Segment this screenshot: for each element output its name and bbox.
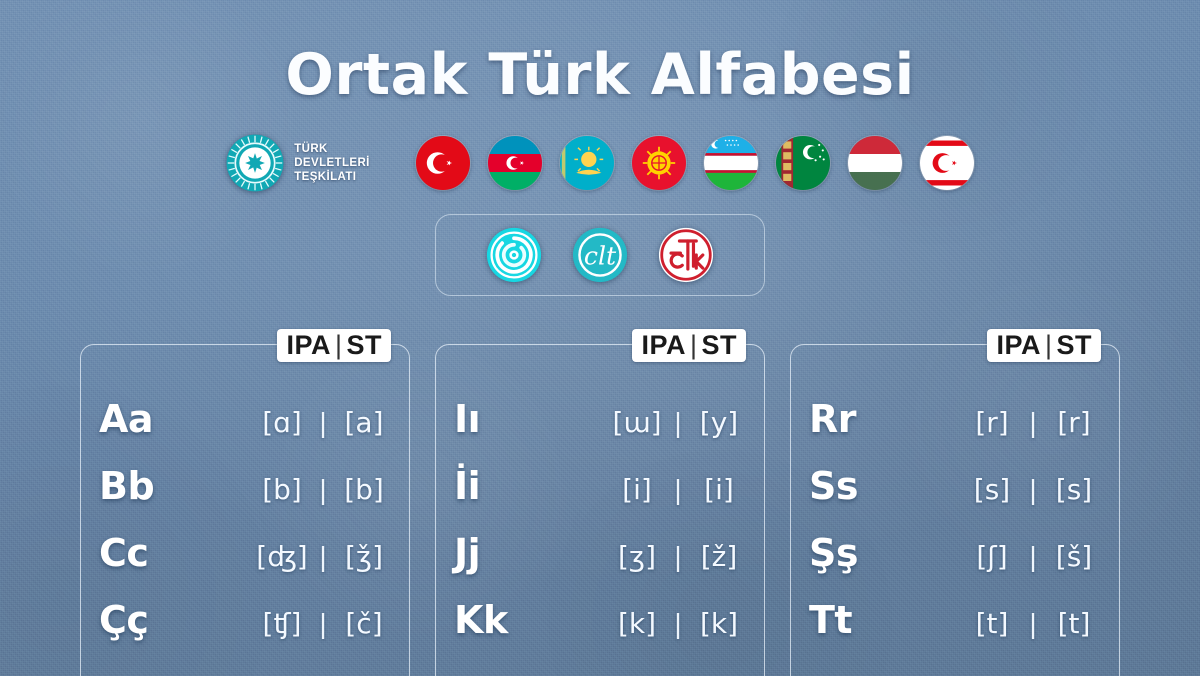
table-row: Cc [ʤ] | [ǯ] — [99, 531, 391, 598]
ipa-value: [r] — [959, 406, 1025, 439]
alphabet-card: IPA|ST Aa [ɑ] | [a] Bb [b] | [b] Cc [ʤ] — [80, 344, 410, 676]
row-separator: | — [315, 407, 331, 439]
st-value: [č] — [331, 607, 397, 640]
alphabet-table: IPA|ST Aa [ɑ] | [a] Bb [b] | [b] Cc [ʤ] — [0, 344, 1200, 676]
header-ipa-label: IPA — [641, 330, 686, 360]
table-row: Rr [r] | [r] — [809, 397, 1101, 464]
institution-logos-box: clt — [435, 214, 765, 296]
clt-monogram-icon: clt — [572, 227, 628, 283]
ipa-value: [t] — [959, 607, 1025, 640]
table-row: Bb [b] | [b] — [99, 464, 391, 531]
ots-emblem-icon — [226, 134, 284, 192]
ipa-value: [ɑ] — [249, 406, 315, 439]
st-value: [s] — [1041, 473, 1107, 506]
header-ipa-label: IPA — [996, 330, 1041, 360]
flag-turkmenistan-icon — [776, 136, 830, 190]
svg-text:clt: clt — [584, 241, 617, 270]
header-separator: | — [331, 330, 347, 360]
flag-azerbaijan-icon — [488, 136, 542, 190]
row-separator: | — [1025, 608, 1041, 640]
header-ipa-label: IPA — [286, 330, 331, 360]
ipa-value: [b] — [249, 473, 315, 506]
flag-kyrgyzstan-icon — [632, 136, 686, 190]
row-separator: | — [670, 541, 686, 573]
column-header: IPA|ST — [277, 329, 391, 362]
tdk-emblem-icon — [658, 227, 714, 283]
st-value: [y] — [686, 406, 752, 439]
letter-pair: Aa — [99, 397, 249, 441]
flag-hungary-icon — [848, 136, 902, 190]
st-value: [i] — [686, 473, 752, 506]
st-value: [ǯ] — [331, 540, 397, 573]
header-separator: | — [686, 330, 702, 360]
org-name-line-3: TEŞKİLATI — [294, 170, 370, 184]
row-separator: | — [315, 541, 331, 573]
flag-uzbekistan-icon — [704, 136, 758, 190]
letter-pair: Ss — [809, 464, 959, 508]
st-value: [b] — [331, 473, 397, 506]
poster: Ortak Türk Alfabesi — [0, 0, 1200, 676]
table-row: Şş [ʃ] | [š] — [809, 531, 1101, 598]
st-value: [š] — [1041, 540, 1107, 573]
page-title: Ortak Türk Alfabesi — [0, 0, 1200, 108]
ipa-value: [ʒ] — [604, 540, 670, 573]
ipa-value: [i] — [604, 473, 670, 506]
ipa-value: [s] — [959, 473, 1025, 506]
row-separator: | — [315, 608, 331, 640]
table-row: Ss [s] | [s] — [809, 464, 1101, 531]
letter-pair: Cc — [99, 531, 249, 575]
table-row: Jj [ʒ] | [ž] — [454, 531, 746, 598]
st-value: [t] — [1041, 607, 1107, 640]
st-value: [k] — [686, 607, 752, 640]
row-separator: | — [670, 608, 686, 640]
st-value: [ž] — [686, 540, 752, 573]
letter-pair: Rr — [809, 397, 959, 441]
letter-pair: Jj — [454, 531, 604, 575]
ipa-value: [k] — [604, 607, 670, 640]
organization-and-flags-strip: TÜRK DEVLETLERİ TEŞKİLATI — [0, 134, 1200, 192]
alphabet-card: IPA|ST Rr [r] | [r] Ss [s] | [s] Şş [ʃ] — [790, 344, 1120, 676]
flag-turkey-icon — [416, 136, 470, 190]
row-separator: | — [1025, 474, 1041, 506]
row-separator: | — [1025, 407, 1041, 439]
ipa-value: [ʃ] — [959, 540, 1025, 573]
st-value: [a] — [331, 406, 397, 439]
header-st-label: ST — [701, 330, 737, 360]
header-st-label: ST — [1056, 330, 1092, 360]
header-st-label: ST — [346, 330, 382, 360]
header-separator: | — [1041, 330, 1057, 360]
row-separator: | — [315, 474, 331, 506]
org-name-line-1: TÜRK — [294, 142, 370, 156]
letter-pair: Bb — [99, 464, 249, 508]
row-separator: | — [670, 407, 686, 439]
table-row: Aa [ɑ] | [a] — [99, 397, 391, 464]
organization-name: TÜRK DEVLETLERİ TEŞKİLATI — [294, 142, 370, 184]
column-header: IPA|ST — [987, 329, 1101, 362]
st-value: [r] — [1041, 406, 1107, 439]
letter-pair: Kk — [454, 598, 604, 642]
column-header: IPA|ST — [632, 329, 746, 362]
table-row: Tt [t] | [t] — [809, 598, 1101, 665]
letter-pair: Çç — [99, 598, 249, 642]
flag-northern-cyprus-icon — [920, 136, 974, 190]
table-row: Iı [ɯ] | [y] — [454, 397, 746, 464]
row-separator: | — [670, 474, 686, 506]
table-row: İi [i] | [i] — [454, 464, 746, 531]
alphabet-card: IPA|ST Iı [ɯ] | [y] İi [i] | [i] Jj [ʒ] — [435, 344, 765, 676]
row-separator: | — [1025, 541, 1041, 573]
ipa-value: [ʧ] — [249, 607, 315, 640]
letter-pair: Tt — [809, 598, 959, 642]
table-row: Kk [k] | [k] — [454, 598, 746, 665]
ipa-value: [ɯ] — [604, 406, 670, 439]
table-row: Çç [ʧ] | [č] — [99, 598, 391, 665]
ipa-value: [ʤ] — [249, 540, 315, 573]
org-name-line-2: DEVLETLERİ — [294, 156, 370, 170]
letter-pair: Iı — [454, 397, 604, 441]
letter-pair: Şş — [809, 531, 959, 575]
organization-logo: TÜRK DEVLETLERİ TEŞKİLATI — [226, 134, 370, 192]
letter-pair: İi — [454, 464, 604, 508]
turkic-academy-emblem-icon — [486, 227, 542, 283]
flag-kazakhstan-icon — [560, 136, 614, 190]
